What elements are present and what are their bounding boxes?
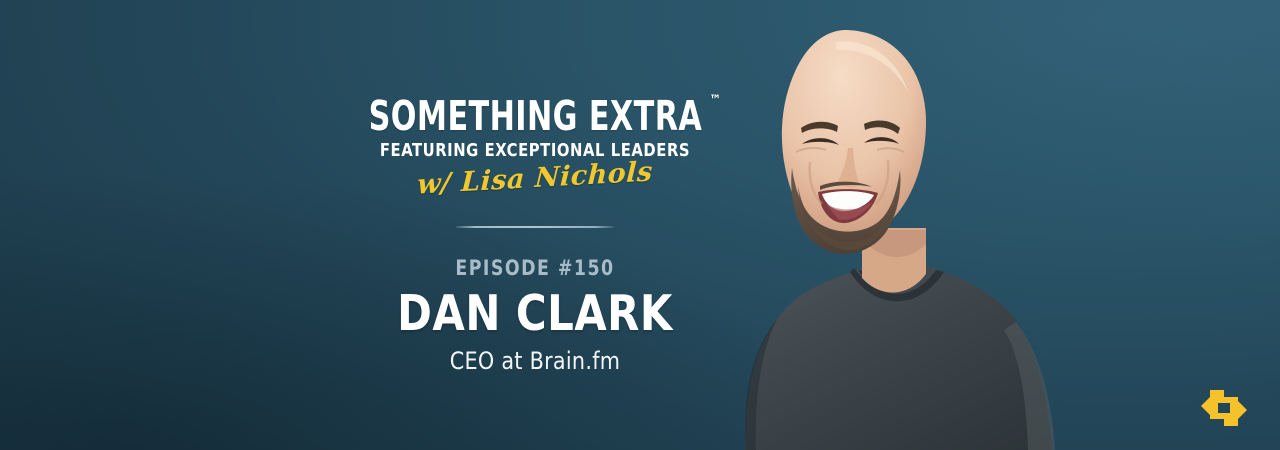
trademark-symbol: ™ bbox=[709, 94, 721, 107]
guest-role: CEO at Brain.fm bbox=[266, 347, 804, 375]
podcast-episode-banner: SOMETHING EXTRA™ FEATURING EXCEPTIONAL L… bbox=[0, 0, 1280, 450]
interlocking-speech-bubbles-icon[interactable] bbox=[1201, 388, 1247, 428]
guest-name: DAN CLARK bbox=[269, 288, 801, 339]
show-title-text: SOMETHING EXTRA bbox=[368, 92, 702, 140]
section-divider bbox=[456, 226, 614, 228]
show-title: SOMETHING EXTRA™ bbox=[368, 96, 702, 137]
show-logo-lockup: SOMETHING EXTRA™ FEATURING EXCEPTIONAL L… bbox=[255, 96, 815, 192]
episode-number: EPISODE #150 bbox=[277, 256, 792, 280]
